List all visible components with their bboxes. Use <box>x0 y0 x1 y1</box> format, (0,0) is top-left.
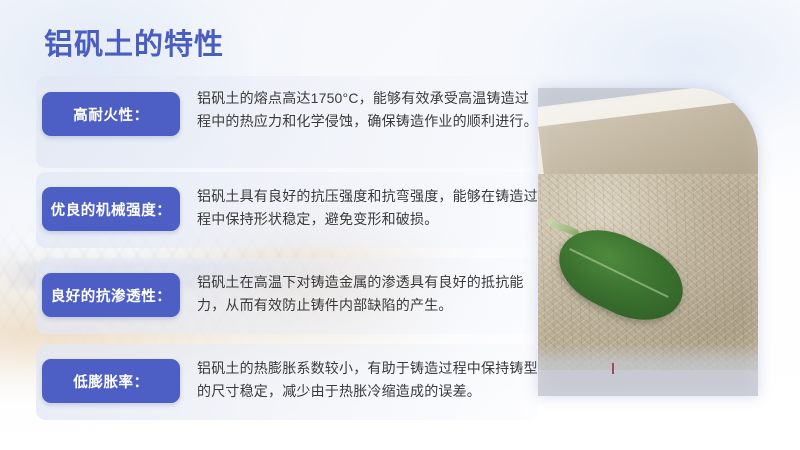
feature-label-badge: 低膨胀率： <box>42 359 180 403</box>
feature-description: 铝矾土的熔点高达1750°C，能够有效承受高温铸造过程中的热应力和化学侵蚀，确保… <box>197 87 538 133</box>
feature-row: 低膨胀率： 铝矾土的热膨胀系数较小，有助于铸造过程中保持铸型的尺寸稳定，减少由于… <box>36 344 538 420</box>
feature-description: 铝矾土在高温下对铸造金属的渗透具有良好的抵抗能力，从而有效防止铸件内部缺陷的产生… <box>197 271 538 317</box>
feature-description: 铝矾土具有良好的抗压强度和抗弯强度，能够在铸造过程中保持形状稳定，避免变形和破损… <box>197 185 538 231</box>
feature-row: 高耐火性： 铝矾土的熔点高达1750°C，能够有效承受高温铸造过程中的热应力和化… <box>36 76 538 168</box>
feature-label-badge: 优良的机械强度： <box>42 187 180 231</box>
photo-floor <box>538 344 758 396</box>
slide-root: 铝矾土的特性 高耐火性： 铝矾土的熔点高达1750°C，能够有效承受高温铸造过程… <box>0 0 800 450</box>
feature-label-badge: 高耐火性： <box>42 92 180 136</box>
photo-scale-mark <box>612 363 614 374</box>
feature-label-badge: 良好的抗渗透性： <box>42 273 180 317</box>
feature-row: 良好的抗渗透性： 铝矾土在高温下对铸造金属的渗透具有良好的抵抗能力，从而有效防止… <box>36 258 538 334</box>
feature-description: 铝矾土的热膨胀系数较小，有助于铸造过程中保持铸型的尺寸稳定，减少由于热胀冷缩造成… <box>197 357 538 403</box>
feature-row: 优良的机械强度： 铝矾土具有良好的抗压强度和抗弯强度，能够在铸造过程中保持形状稳… <box>36 172 538 248</box>
bauxite-photo <box>538 88 758 396</box>
